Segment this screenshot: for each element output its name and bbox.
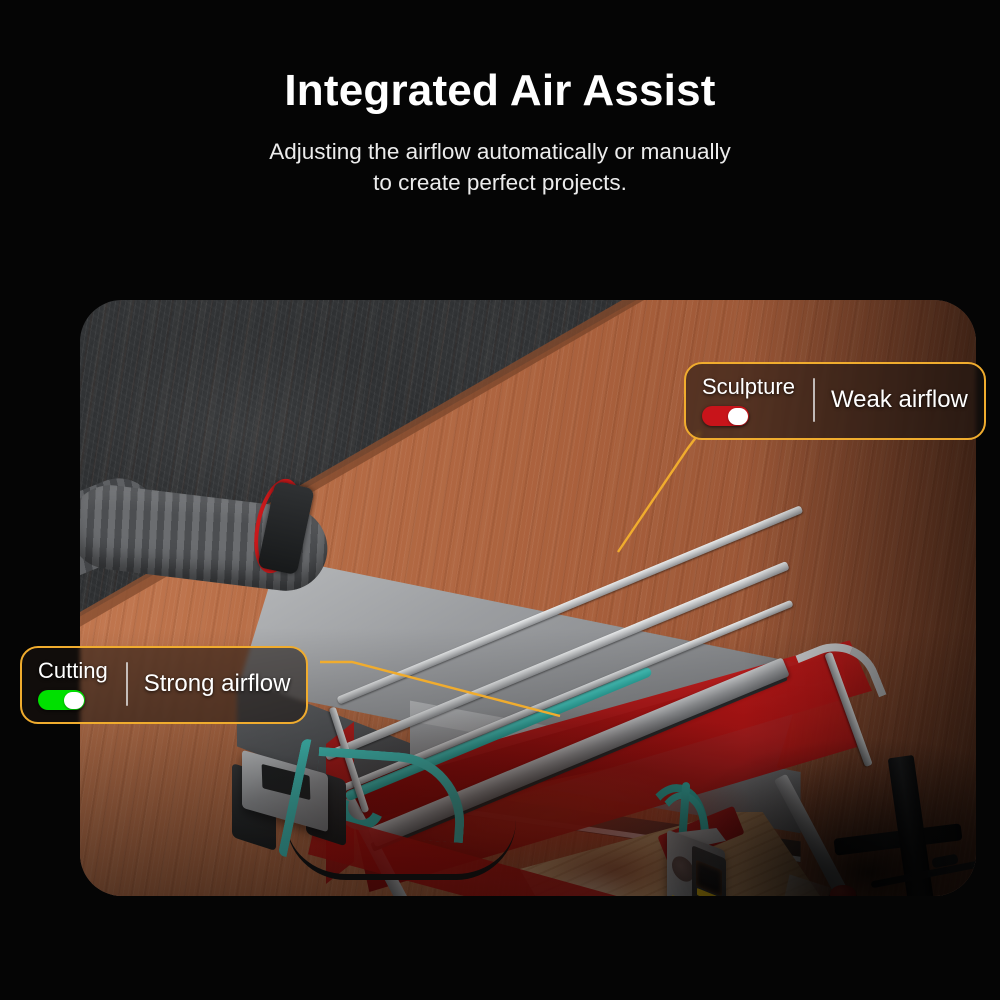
toggle-knob bbox=[64, 692, 84, 709]
callout-badge-cutting[interactable]: Cutting Strong airflow bbox=[20, 646, 308, 724]
callout-divider bbox=[813, 378, 815, 422]
page-subtitle: Adjusting the airflow automatically or m… bbox=[0, 136, 1000, 198]
callout-airflow-label-cutting: Strong airflow bbox=[144, 670, 291, 698]
callout-mode-label-cutting: Cutting bbox=[38, 658, 108, 683]
promo-image-root: Integrated Air Assist Adjusting the airf… bbox=[0, 0, 1000, 1000]
subtitle-line-2: to create perfect projects. bbox=[0, 167, 1000, 198]
toggle-knob bbox=[728, 408, 748, 425]
airflow-toggle-sculpture[interactable] bbox=[702, 406, 749, 426]
callout-mode-group-sculpture: Sculpture bbox=[702, 374, 795, 426]
callout-mode-label-sculpture: Sculpture bbox=[702, 374, 795, 399]
page-title: Integrated Air Assist bbox=[0, 66, 1000, 116]
callout-airflow-label-sculpture: Weak airflow bbox=[831, 386, 968, 414]
airflow-toggle-cutting[interactable] bbox=[38, 690, 85, 710]
callout-divider bbox=[126, 662, 128, 706]
callout-badge-sculpture[interactable]: Sculpture Weak airflow bbox=[684, 362, 986, 440]
subtitle-line-1: Adjusting the airflow automatically or m… bbox=[0, 136, 1000, 167]
callout-mode-group-cutting: Cutting bbox=[38, 658, 108, 710]
